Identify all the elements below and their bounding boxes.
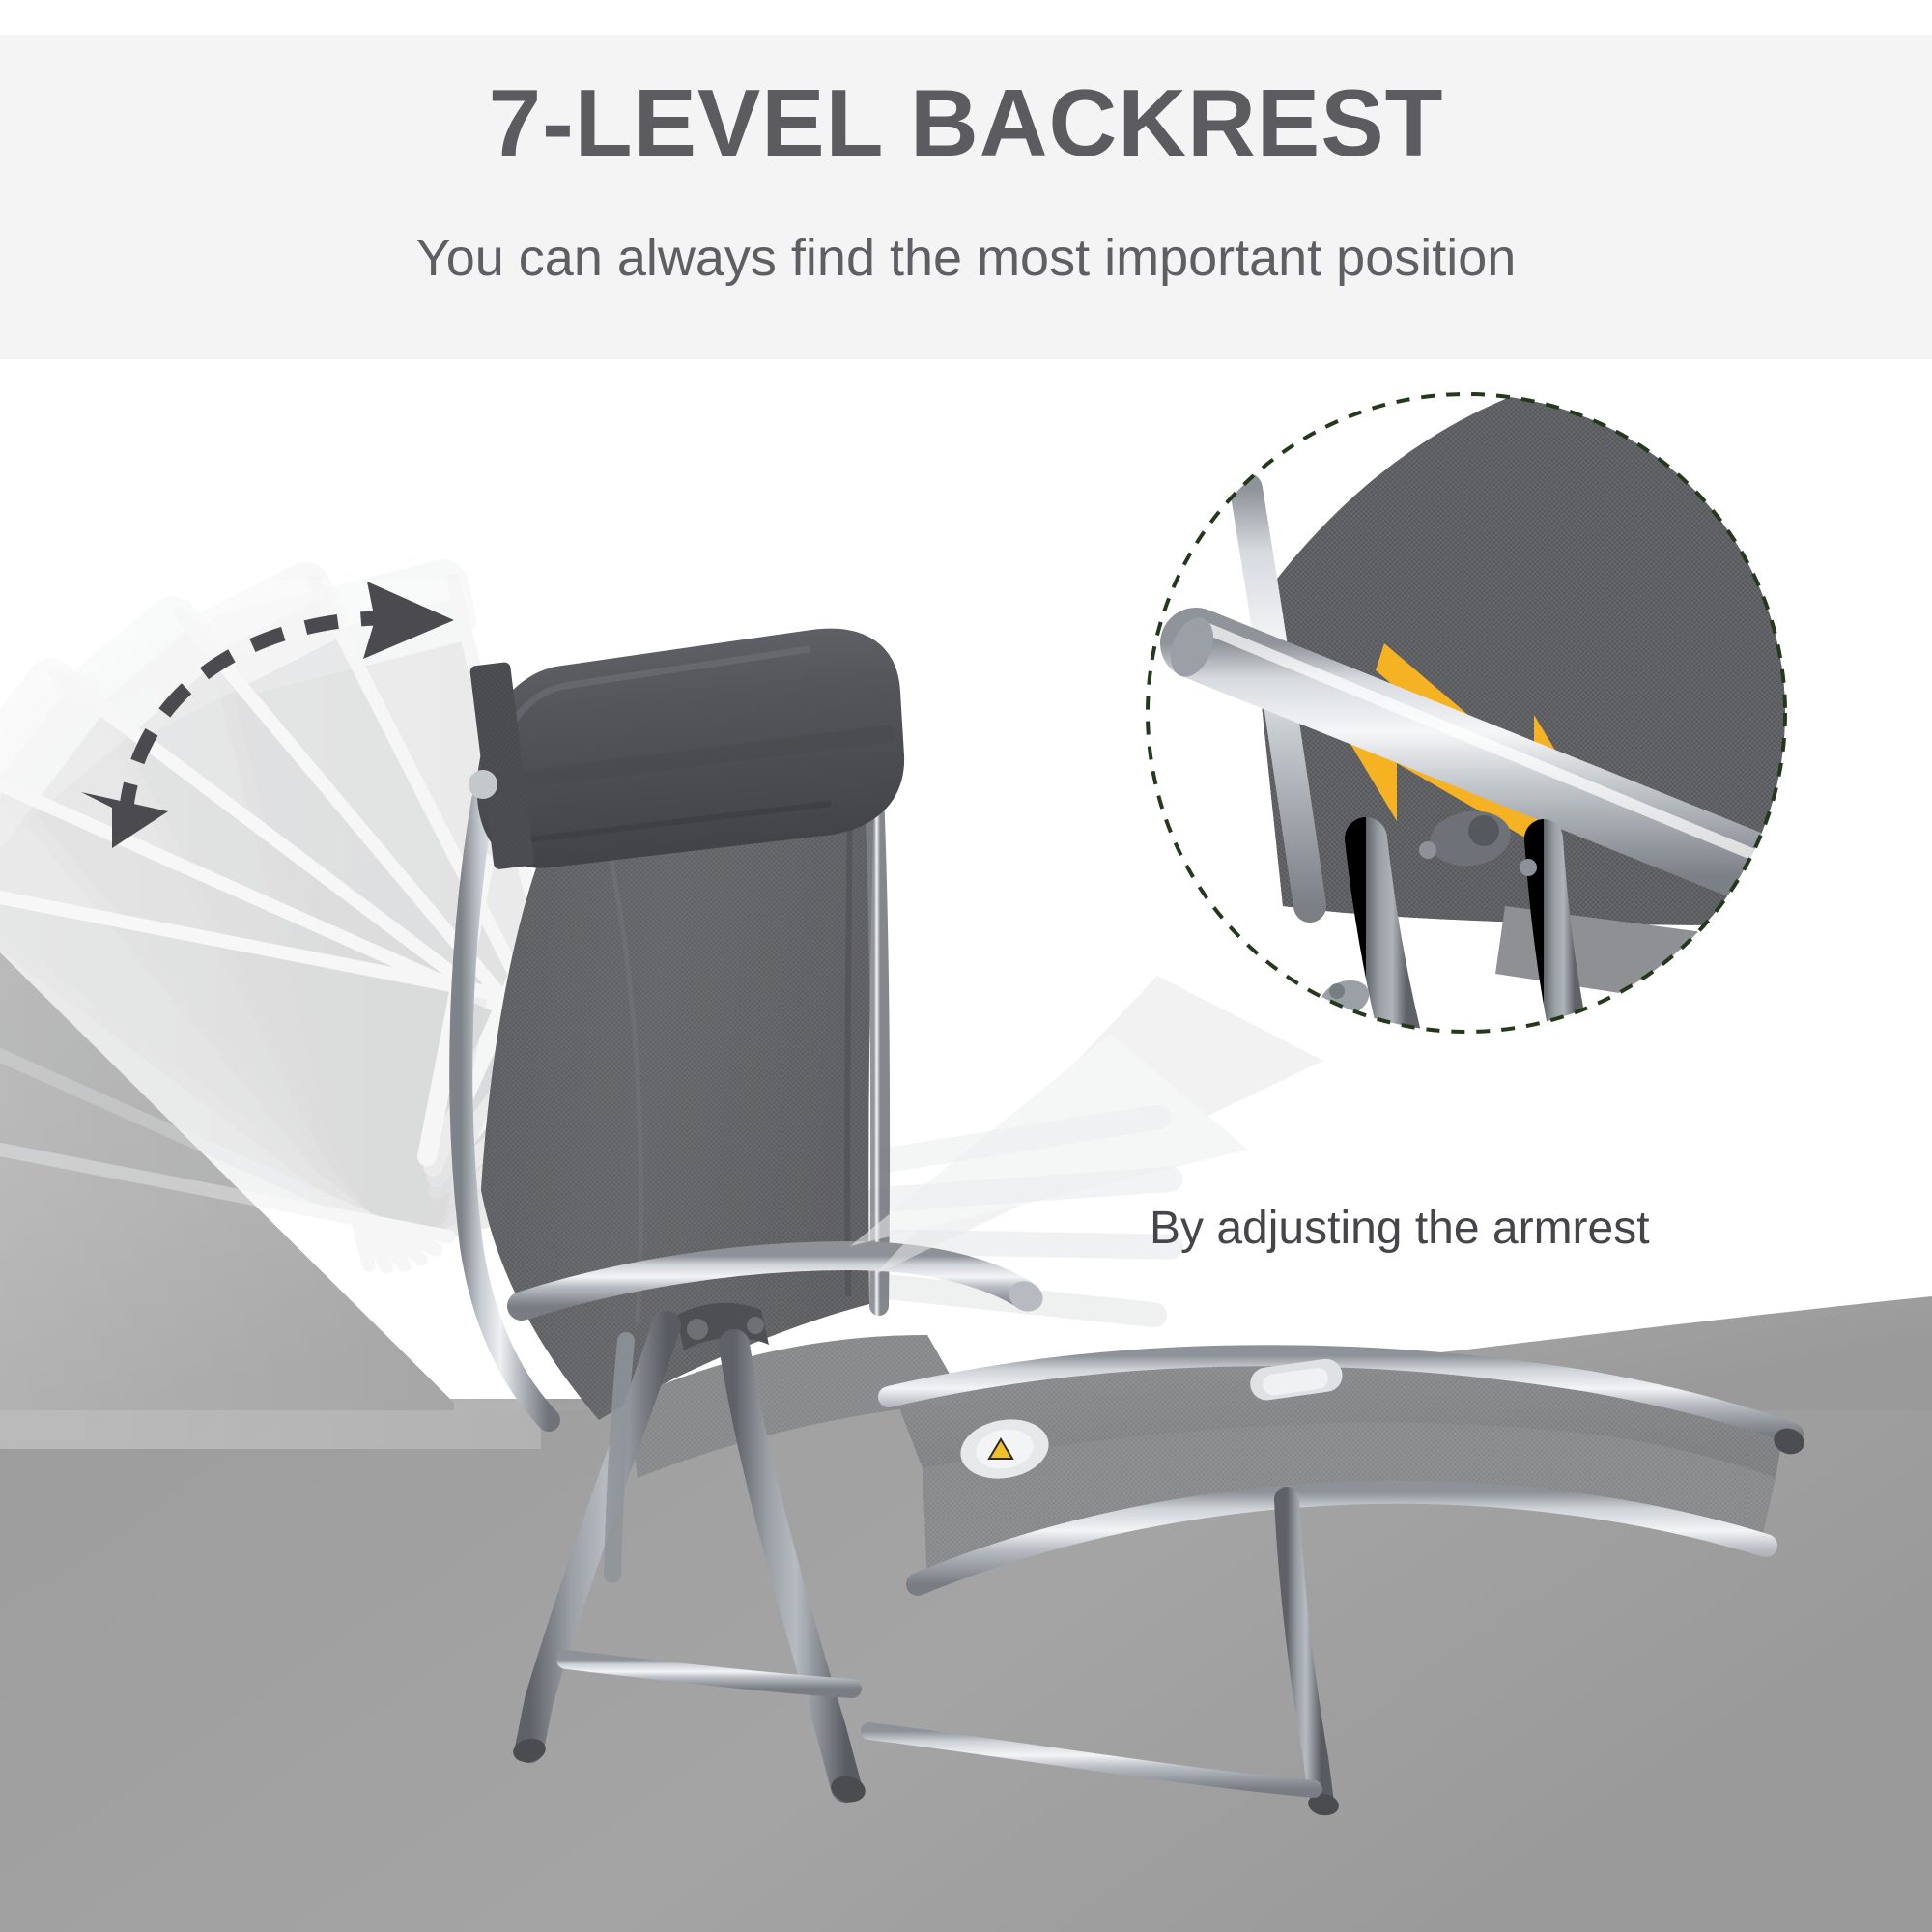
leg-footrest-brace — [869, 1731, 1314, 1789]
product-feature-image: 7-LEVEL BACKREST You can always find the… — [0, 0, 1932, 1932]
leg-rear-inner — [612, 1341, 626, 1575]
rotation-arrow — [68, 570, 531, 860]
detail-callout-circle — [1138, 384, 1795, 1041]
callout-caption: By adjusting the armrest — [1150, 1206, 1884, 1252]
arrow-head-right — [363, 582, 454, 659]
leg-footrest-support — [1287, 1499, 1321, 1803]
